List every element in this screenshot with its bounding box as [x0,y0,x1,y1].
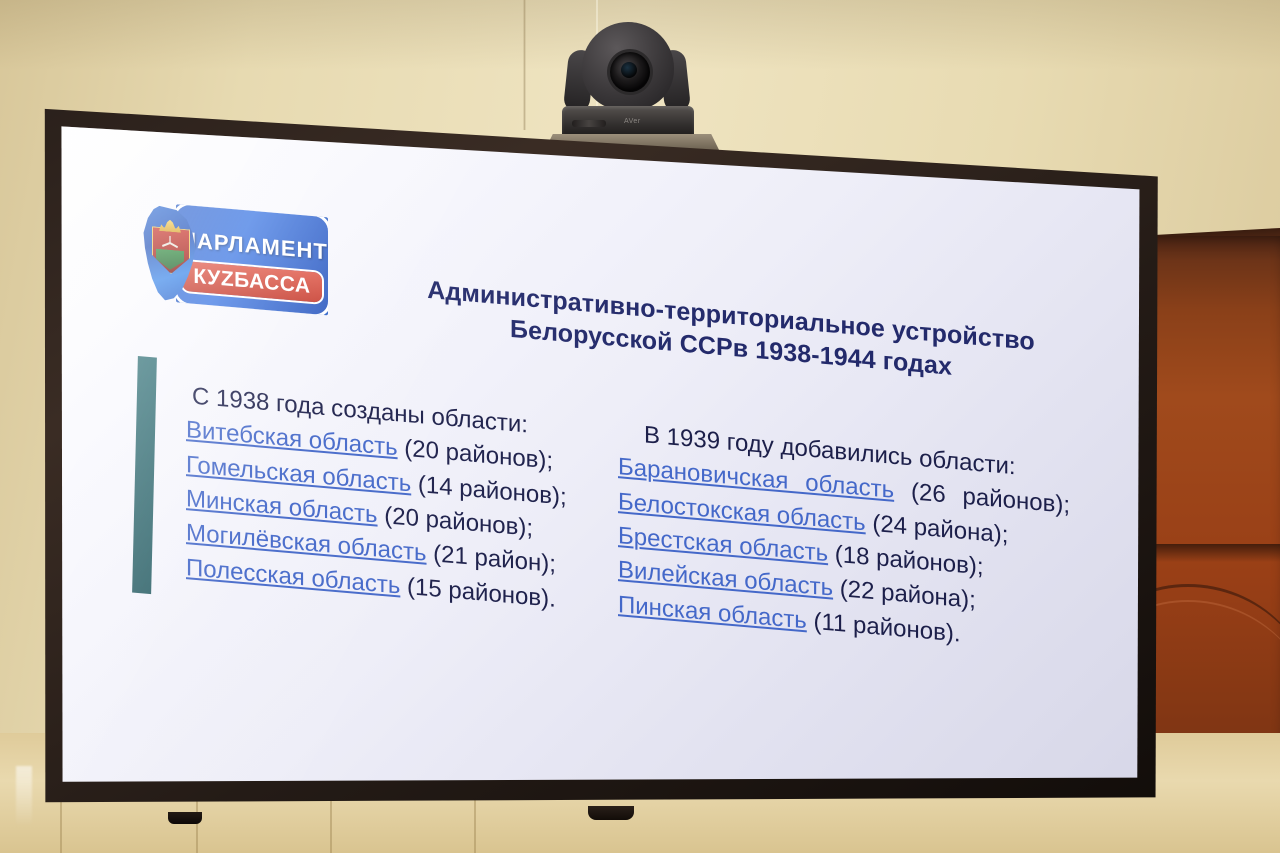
region-district-count: (21 район); [427,540,556,578]
presentation-slide: ПАРЛАМЕНТ КУZБАССА Административно-терри… [56,110,1146,794]
tv-screen[interactable]: ПАРЛАМЕНТ КУZБАССА Административно-терри… [56,110,1146,794]
ptz-conference-camera: AVer [558,22,698,154]
logo-line-2: КУZБАССА [182,261,322,303]
logo-line-1: ПАРЛАМЕНТ [190,225,318,266]
parlament-kuzbassa-logo: ПАРЛАМЕНТ КУZБАССА [132,201,328,316]
camera-ir-sensor [572,120,606,127]
camera-brand-label: AVer [624,118,641,125]
logo-z-glyph: Z [221,267,234,292]
slide-title: Административно-территориальное устройст… [386,270,1076,393]
logo-plate: ПАРЛАМЕНТ КУZБАССА [176,204,328,315]
accent-bar [132,356,157,594]
wall-seam-left [523,0,526,130]
left-column: С 1938 года созданы области: Витебская о… [186,379,590,620]
logo-line-2-post: БАССА [234,268,310,299]
wall-scuff [16,766,32,826]
left-column-items: Витебская область (20 районов);Гомельска… [186,413,590,619]
kuzbass-coat-of-arms-icon [148,218,192,278]
slide-columns: С 1938 года созданы области: Витебская о… [186,379,1086,662]
logo-line-2-pre: КУ [193,265,220,291]
camera-lens-icon [610,52,650,92]
right-column: В 1939 году добавились области: Баранови… [618,416,1070,661]
